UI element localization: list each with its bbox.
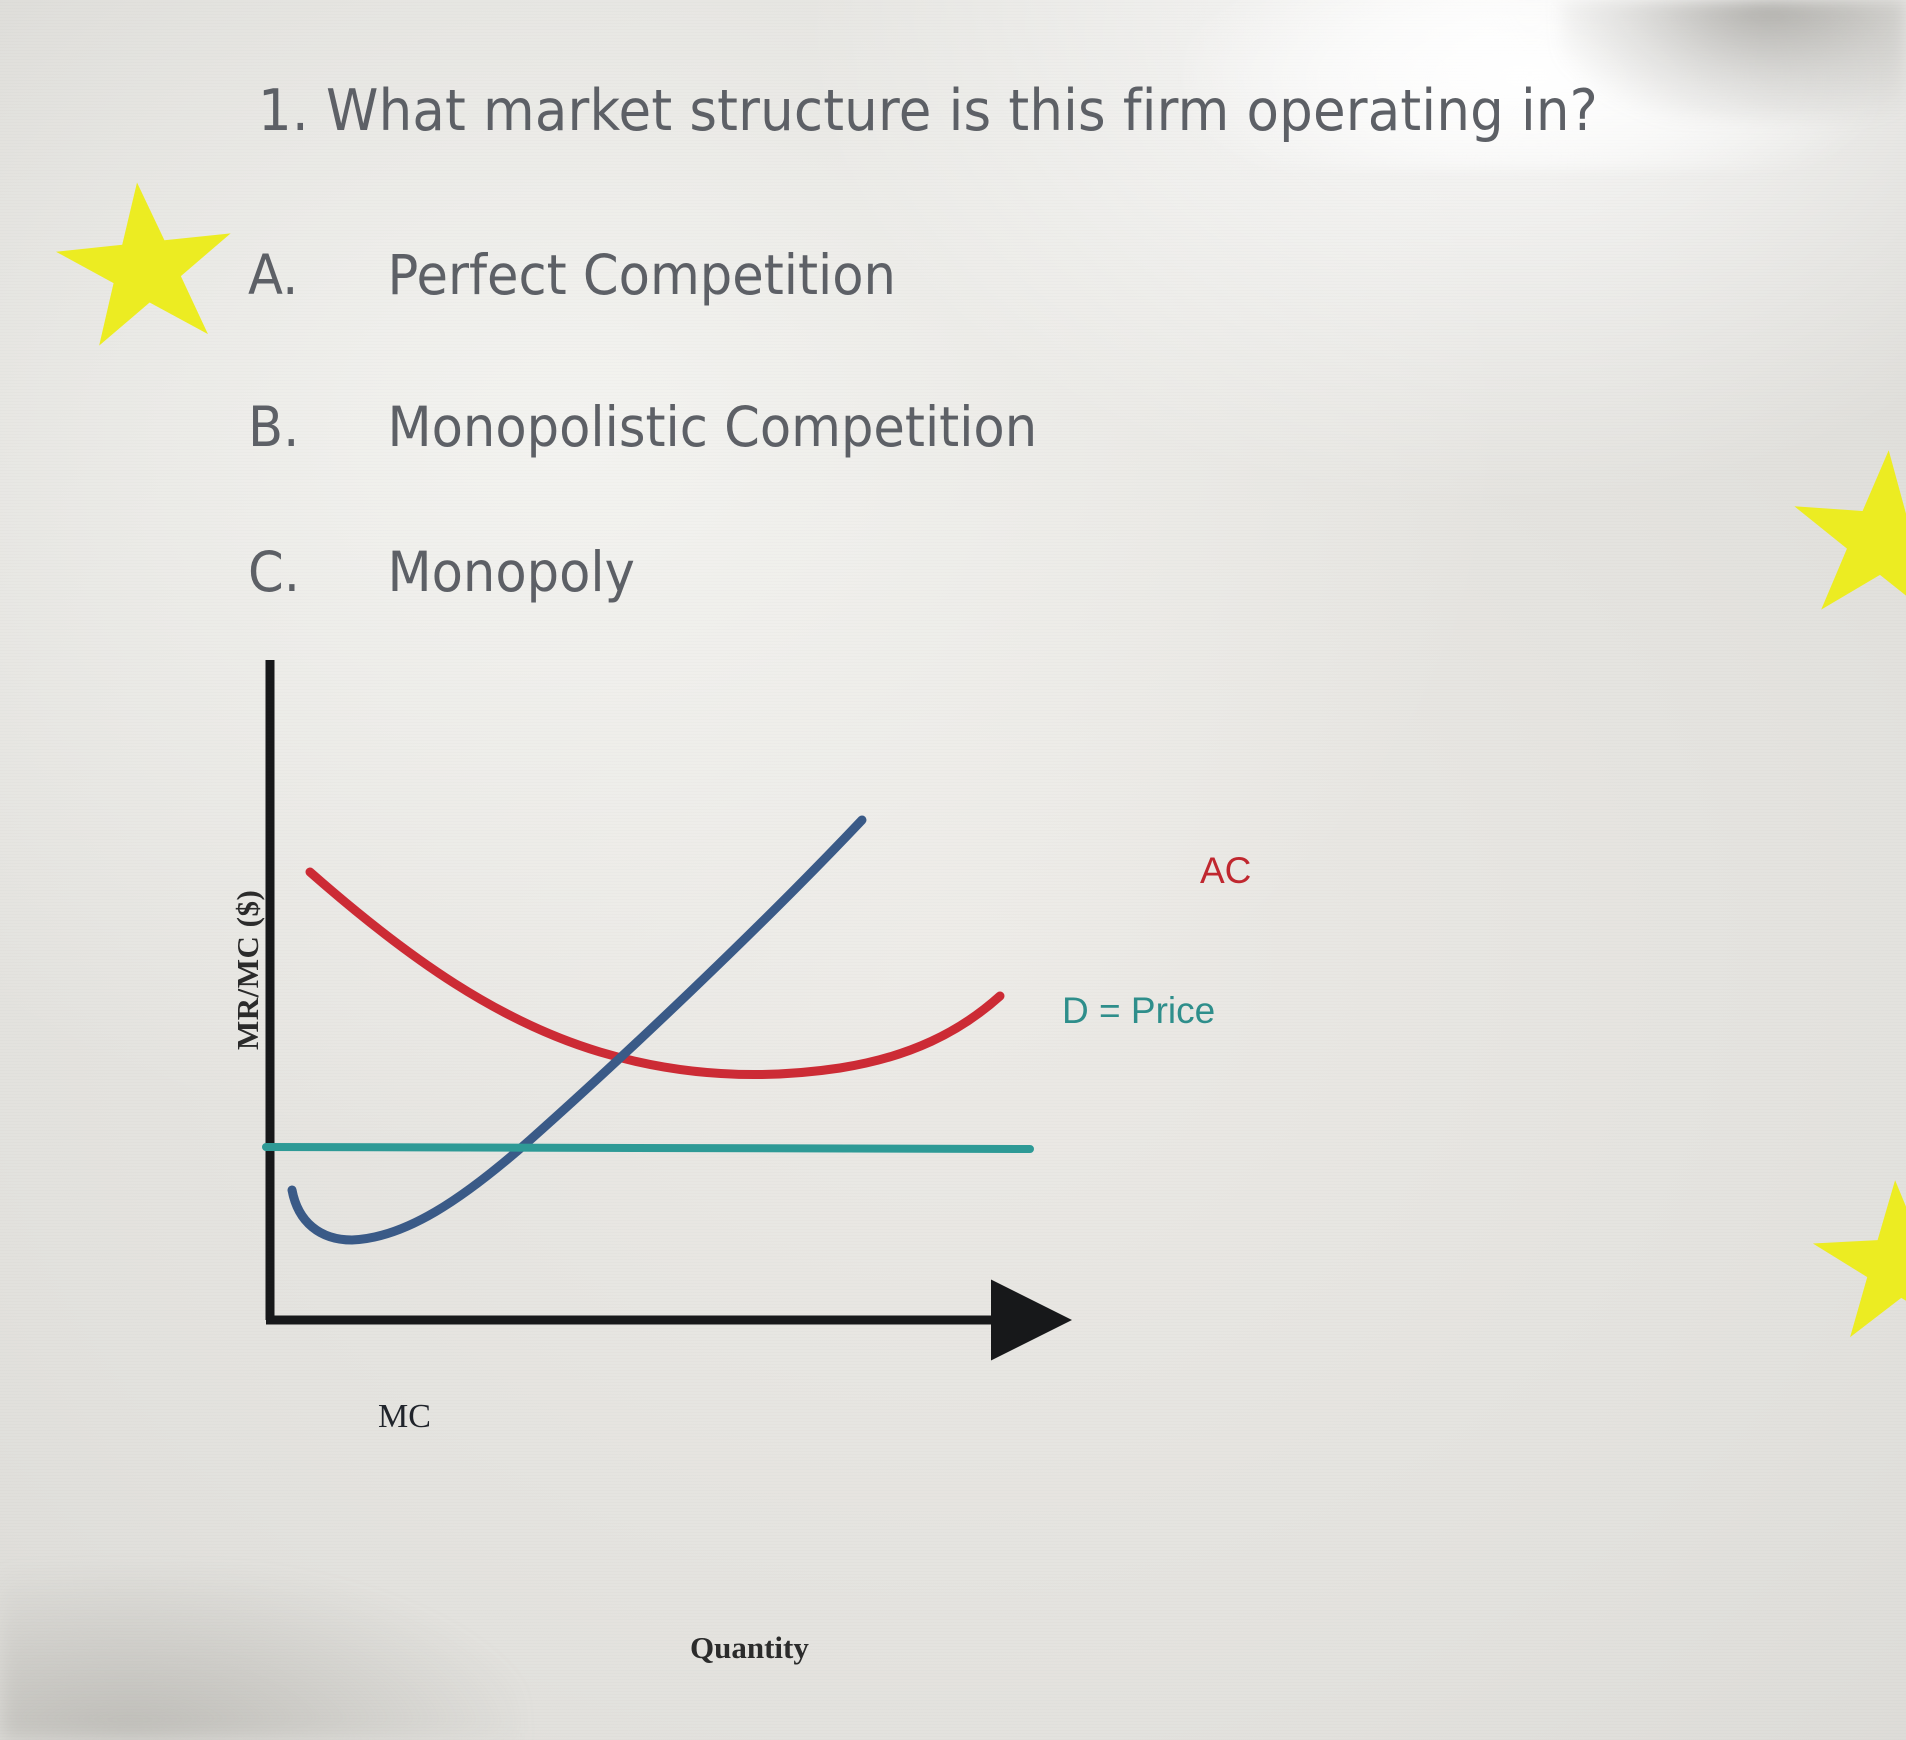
curve-ac (310, 872, 1000, 1075)
curve-mc (292, 820, 862, 1240)
choice-c-letter: C. (248, 540, 388, 604)
y-axis-label: MR/MC ($) (230, 890, 266, 1050)
line-demand (266, 1147, 1030, 1149)
choice-b[interactable]: B.Monopolistic Competition (248, 395, 1037, 459)
chart-svg (200, 660, 1340, 1700)
curve-label-mc: MC (378, 1398, 431, 1436)
choice-a-letter: A. (248, 243, 388, 307)
choice-a[interactable]: A.Perfect Competition (248, 243, 896, 307)
curve-label-ac: AC (1200, 850, 1251, 892)
curve-label-demand: D = Price (1062, 990, 1215, 1032)
choice-c[interactable]: C.Monopoly (248, 540, 635, 604)
choice-b-label: Monopolistic Competition (388, 395, 1038, 459)
choice-b-letter: B. (248, 395, 388, 459)
question-text: 1. What market structure is this firm op… (258, 78, 1598, 144)
star-icon (48, 173, 245, 363)
star-icon (1808, 1176, 1906, 1353)
choice-c-label: Monopoly (388, 540, 635, 604)
star-icon (1784, 444, 1906, 634)
cost-curve-chart: MR/MC ($) Quantity MC AC D = Price (200, 660, 1340, 1700)
choice-a-label: Perfect Competition (388, 243, 896, 307)
x-axis-label: Quantity (690, 1630, 809, 1666)
